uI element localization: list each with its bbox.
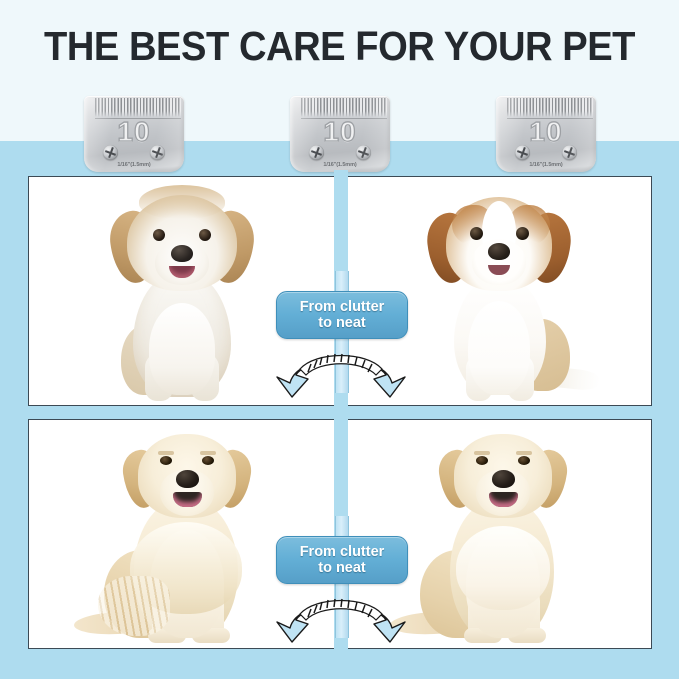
blade-body: 10 1/16"(1.5mm) xyxy=(290,96,390,172)
product-poster: THE BEST CARE FOR YOUR PET 10 1/16"(1.5m… xyxy=(0,0,679,679)
callout-label: From clutter to neat xyxy=(300,299,385,331)
page-title: THE BEST CARE FOR YOUR PET xyxy=(24,26,655,67)
blade-screw-left-icon xyxy=(103,145,118,160)
blade-screw-right-icon xyxy=(356,145,371,160)
curved-transform-arrow-icon xyxy=(264,578,418,644)
blade-body: 10 1/16"(1.5mm) xyxy=(496,96,596,172)
callout-label: From clutter to neat xyxy=(300,544,385,576)
callout-from-clutter-to-neat-top: From clutter to neat xyxy=(264,283,418,401)
blade-size-label: 1/16"(1.5mm) xyxy=(84,162,184,168)
clipper-blade-2: 10 1/16"(1.5mm) xyxy=(286,86,394,172)
dog-terrier-neat xyxy=(398,185,598,401)
dog-retriever-shaggy xyxy=(74,426,290,644)
blade-size-number: 10 xyxy=(84,118,184,146)
clipper-blade-1: 10 1/16"(1.5mm) xyxy=(80,86,188,172)
callout-bubble: From clutter to neat xyxy=(276,536,408,584)
callout-bubble: From clutter to neat xyxy=(276,291,408,339)
blade-size-label: 1/16"(1.5mm) xyxy=(290,162,390,168)
blade-body: 10 1/16"(1.5mm) xyxy=(84,96,184,172)
dog-retriever-neat xyxy=(390,426,606,644)
dog-terrier-shaggy xyxy=(87,185,277,401)
blade-size-number: 10 xyxy=(290,118,390,146)
blade-screw-right-icon xyxy=(562,145,577,160)
blade-size-label: 1/16"(1.5mm) xyxy=(496,162,596,168)
panel-caption: Golden retriever with long shaggy coat s… xyxy=(29,420,30,421)
blade-size-number: 10 xyxy=(496,118,596,146)
clipper-blade-3: 10 1/16"(1.5mm) xyxy=(492,86,600,172)
curved-transform-arrow-icon xyxy=(264,333,418,399)
blade-screw-left-icon xyxy=(515,145,530,160)
blade-screw-right-icon xyxy=(150,145,165,160)
panel-caption: Shaggy untrimmed white and tan terrier m… xyxy=(29,177,30,178)
callout-from-clutter-to-neat-bottom: From clutter to neat xyxy=(264,528,418,646)
blade-screw-left-icon xyxy=(309,145,324,160)
